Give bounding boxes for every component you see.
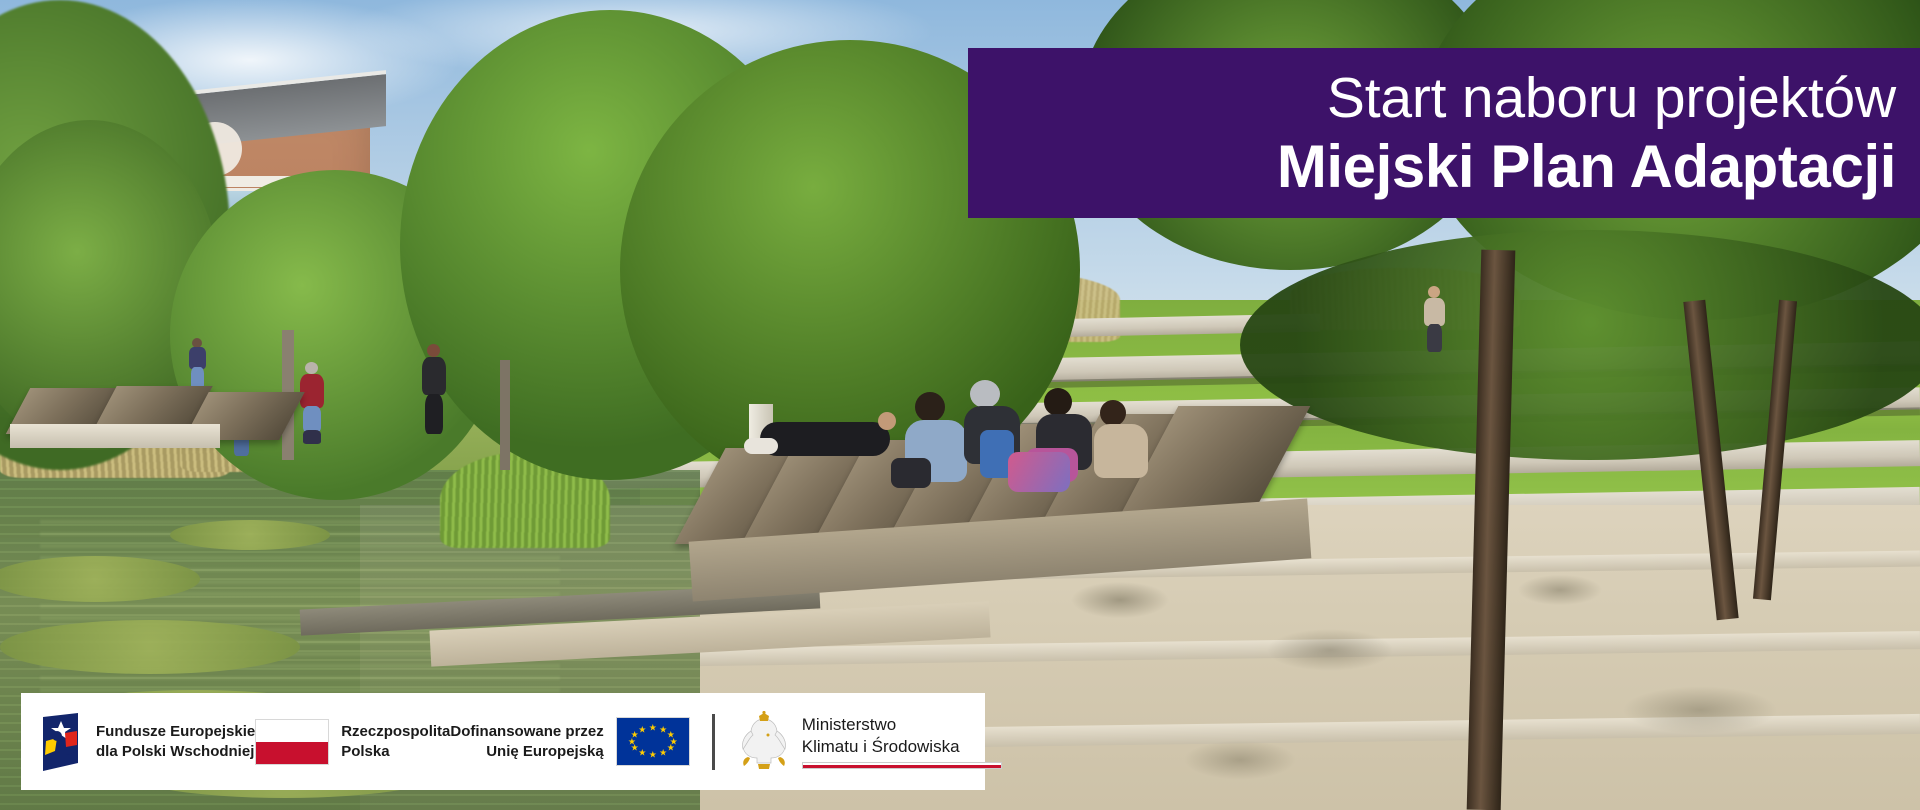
headline-line-1: Start naboru projektów (1016, 70, 1896, 127)
tree-trunk (500, 360, 510, 470)
eu-star: ★ (638, 749, 646, 758)
banner-image: Start naboru projektów Miejski Plan Adap… (0, 0, 1920, 810)
logo-fundusze-europejskie: Fundusze Europejskie dla Polski Wschodni… (37, 711, 255, 773)
eu-star: ★ (649, 751, 657, 760)
logo-dofinansowane-przez-ue: Dofinansowane przez Unię Europejską ★★★★… (450, 717, 689, 766)
polish-eagle-emblem-icon (737, 711, 791, 773)
fe-logo-icon (37, 711, 84, 773)
tree-shadow-dapple (1000, 560, 1920, 810)
eu-star: ★ (667, 744, 675, 753)
eu-logo-line-1: Dofinansowane przez (450, 722, 603, 741)
fe-logo-line-2: dla Polski Wschodniej (96, 742, 255, 761)
ministry-logo-text: Ministerstwo Klimatu i Środowiska (802, 714, 1002, 769)
ministry-line-1: Ministerstwo (802, 714, 1002, 735)
eu-star: ★ (649, 723, 657, 732)
lily-pads (170, 520, 330, 550)
funding-logo-bar: Fundusze Europejskie dla Polski Wschodni… (21, 693, 985, 790)
fe-logo-line-1: Fundusze Europejskie (96, 722, 255, 741)
logo-rzeczpospolita-polska: Rzeczpospolita Polska (255, 719, 450, 765)
eu-star: ★ (638, 725, 646, 734)
polish-flag-icon (255, 719, 329, 765)
rp-logo-line-1: Rzeczpospolita (341, 722, 450, 741)
lily-pads (0, 556, 200, 602)
ministry-flag-rule (802, 762, 1002, 769)
logo-ministerstwo-klimatu-i-srodowiska: Ministerstwo Klimatu i Środowiska (737, 711, 1002, 773)
ministry-line-2: Klimatu i Środowiska (802, 736, 1002, 757)
lily-pads (0, 620, 300, 674)
eu-logo-text: Dofinansowane przez Unię Europejską (450, 722, 603, 760)
eu-star: ★ (659, 749, 667, 758)
eu-flag-icon: ★★★★★★★★★★★★ (616, 717, 690, 766)
rp-logo-line-2: Polska (341, 742, 450, 761)
headline-banner: Start naboru projektów Miejski Plan Adap… (968, 48, 1920, 218)
headline-line-2: Miejski Plan Adaptacji (1016, 137, 1896, 197)
bag (1008, 452, 1070, 492)
fe-logo-text: Fundusze Europejskie dla Polski Wschodni… (96, 722, 255, 760)
vertical-divider (712, 714, 715, 770)
rp-logo-text: Rzeczpospolita Polska (341, 722, 450, 760)
eu-logo-line-2: Unię Europejską (450, 742, 603, 761)
